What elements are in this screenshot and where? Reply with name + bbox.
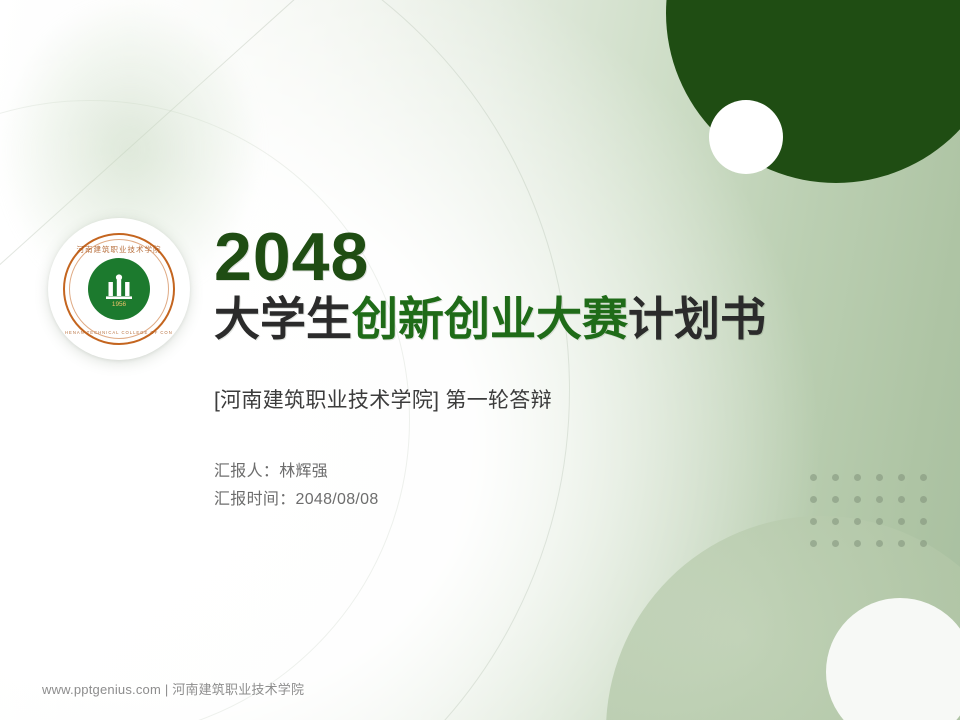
school-logo: 河南建筑职业技术学院 1956 HENAN TECHNICAL COLLEGE … [48, 218, 190, 360]
footer-credit: www.pptgenius.com | 河南建筑职业技术学院 [42, 679, 304, 698]
decor-dot [832, 518, 839, 525]
subtitle: [河南建筑职业技术学院] 第一轮答辩 [214, 384, 904, 414]
title-segment-dark-1: 大学生 [214, 293, 352, 345]
presentation-slide: 河南建筑职业技术学院 1956 HENAN TECHNICAL COLLEGE … [0, 0, 960, 720]
seal-core: 1956 [88, 258, 150, 320]
decor-dot [876, 540, 883, 547]
decor-dot [832, 540, 839, 547]
page-title: 大学生创新创业大赛计划书 [214, 295, 904, 345]
building-columns-icon: 1956 [99, 269, 139, 309]
decor-circle-white-top-right [709, 100, 783, 174]
decor-dot [854, 540, 861, 547]
decor-dot [920, 474, 927, 481]
meta-block: 汇报人：林辉强 汇报时间：2048/08/08 [214, 458, 904, 513]
decor-dot [898, 518, 905, 525]
decor-dot [898, 540, 905, 547]
decor-dot [876, 518, 883, 525]
decor-dot [810, 540, 817, 547]
circular-seal-icon: 河南建筑职业技术学院 1956 HENAN TECHNICAL COLLEGE … [63, 233, 175, 345]
decor-dot [920, 540, 927, 547]
decor-dot [810, 518, 817, 525]
title-block: 2048 大学生创新创业大赛计划书 [河南建筑职业技术学院] 第一轮答辩 汇报人… [214, 224, 904, 513]
seal-inner-ring-text: HENAN TECHNICAL COLLEGE OF CONSTRUCTION [65, 330, 173, 335]
decor-circle-dark-green-top-right [666, 0, 960, 183]
decor-dot [920, 496, 927, 503]
report-time-line: 汇报时间：2048/08/08 [214, 486, 904, 514]
title-year: 2048 [214, 224, 904, 291]
svg-text:1956: 1956 [112, 301, 127, 308]
presenter-line: 汇报人：林辉强 [214, 458, 904, 486]
title-segment-green: 创新创业大赛 [352, 293, 628, 345]
decor-dot [854, 518, 861, 525]
seal-outer-ring-text: 河南建筑职业技术学院 [65, 244, 173, 255]
title-segment-dark-2: 计划书 [628, 293, 766, 345]
decor-dot [920, 518, 927, 525]
